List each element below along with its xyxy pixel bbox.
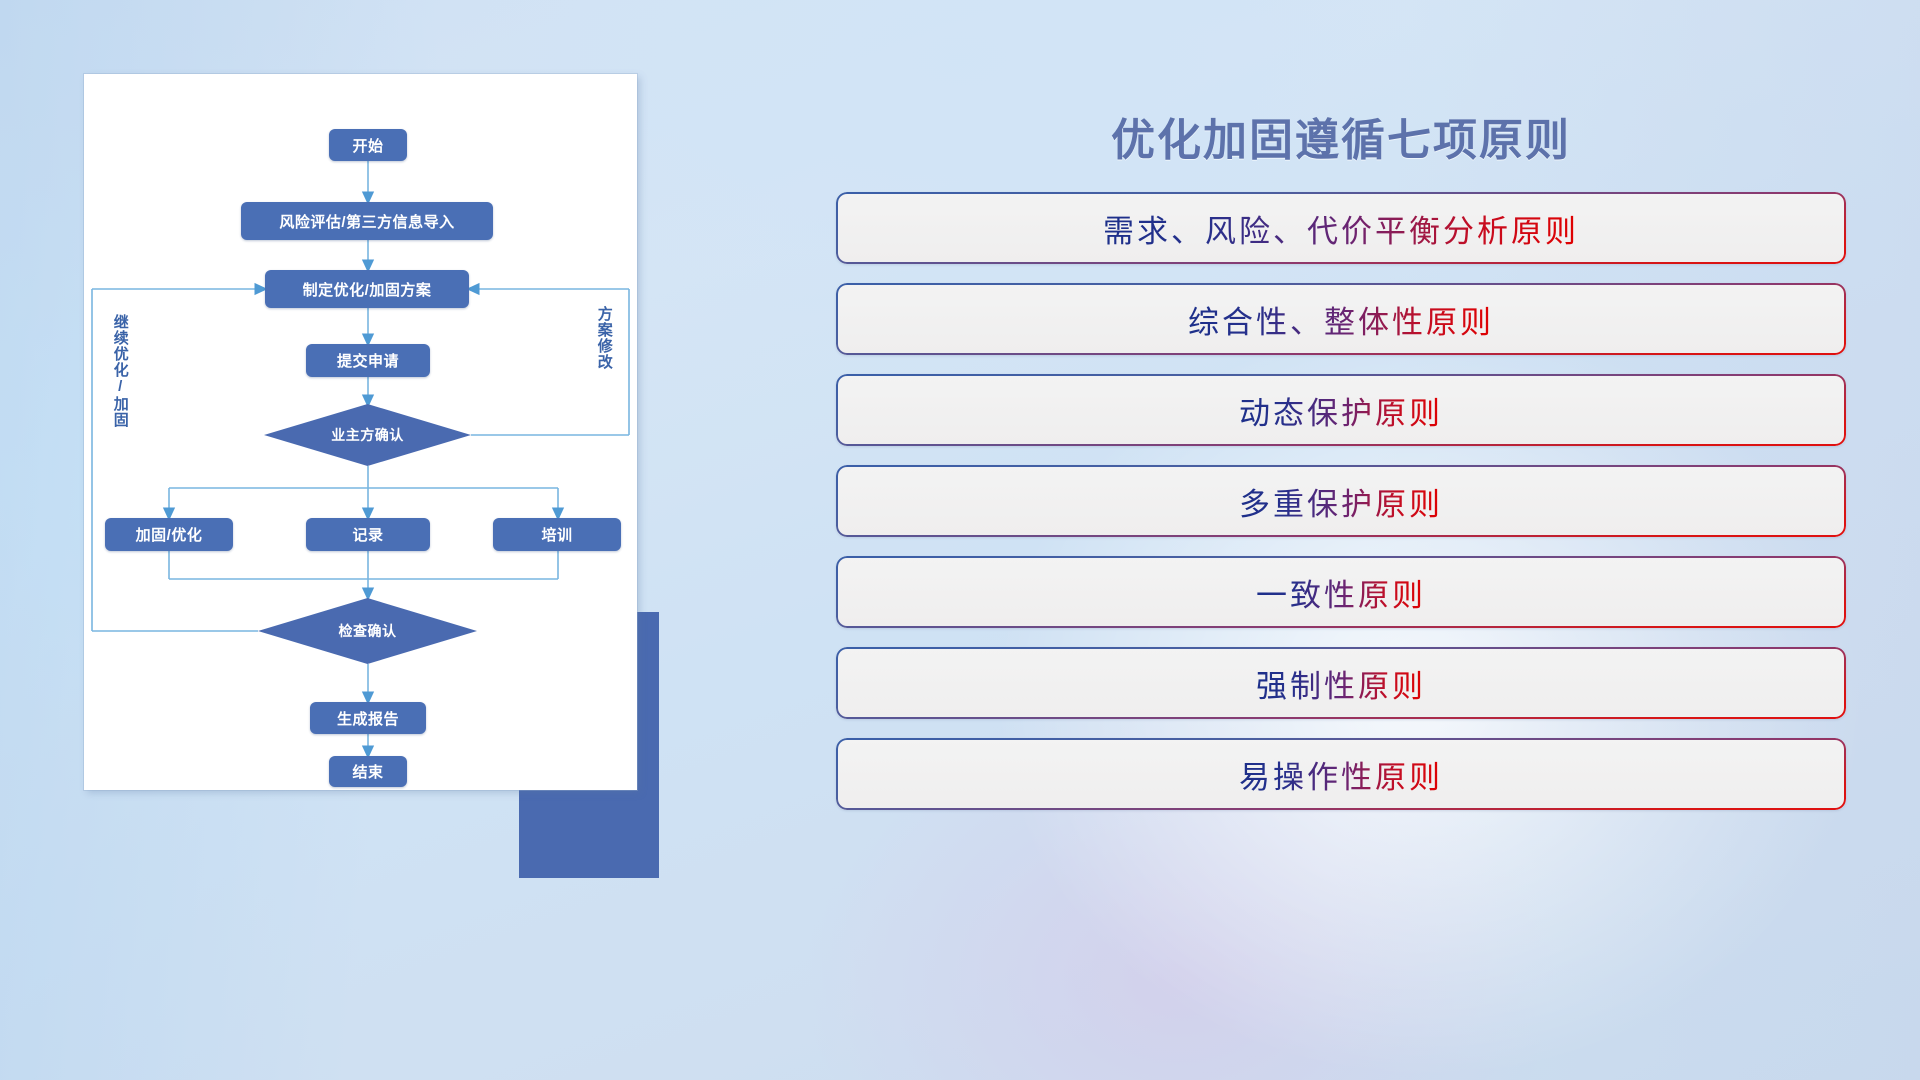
flow-node-record[interactable]: 记录 [306,518,430,551]
principles-list: 需求、风险、代价平衡分析原则 综合性、整体性原则 动态保护原则 多重保护原则 一… [836,192,1846,829]
principle-item-4[interactable]: 多重保护原则 [836,465,1846,537]
flowchart-panel: 开始 风险评估/第三方信息导入 制定优化/加固方案 提交申请 业主方确认 加固/… [84,74,644,794]
principle-item-3-label: 动态保护原则 [1239,388,1443,433]
flow-node-owner-confirm-label: 业主方确认 [264,404,471,466]
flow-node-check-confirm-label: 检查确认 [258,598,477,664]
principles-panel: 优化加固遵循七项原则 需求、风险、代价平衡分析原则 综合性、整体性原则 动态保护… [836,80,1846,1010]
flowchart-card: 开始 风险评估/第三方信息导入 制定优化/加固方案 提交申请 业主方确认 加固/… [84,74,637,790]
flow-node-submit[interactable]: 提交申请 [306,344,430,377]
principle-item-1[interactable]: 需求、风险、代价平衡分析原则 [836,192,1846,264]
flow-edge-label-right-loop: 方案修改 [596,306,612,370]
principle-item-7-label: 易操作性原则 [1239,752,1443,797]
principle-item-5-label: 一致性原则 [1256,570,1426,615]
flow-node-check-confirm[interactable]: 检查确认 [258,598,477,664]
principle-item-2-label: 综合性、整体性原则 [1188,297,1494,342]
principle-item-4-label: 多重保护原则 [1239,479,1443,524]
flow-node-end[interactable]: 结束 [329,756,407,787]
principle-item-6-label: 强制性原则 [1256,661,1426,706]
principle-item-6[interactable]: 强制性原则 [836,647,1846,719]
flow-edge-label-left-loop: 继续优化/加固 [112,314,128,428]
principle-item-1-label: 需求、风险、代价平衡分析原则 [1103,206,1579,251]
principle-item-5[interactable]: 一致性原则 [836,556,1846,628]
principle-item-7[interactable]: 易操作性原则 [836,738,1846,810]
flow-node-train[interactable]: 培训 [493,518,621,551]
flow-node-plan[interactable]: 制定优化/加固方案 [265,270,469,308]
principle-item-3[interactable]: 动态保护原则 [836,374,1846,446]
flow-node-start[interactable]: 开始 [329,129,407,161]
flow-node-report[interactable]: 生成报告 [310,702,426,734]
flow-node-risk[interactable]: 风险评估/第三方信息导入 [241,202,493,240]
principle-item-2[interactable]: 综合性、整体性原则 [836,283,1846,355]
principles-title: 优化加固遵循七项原则 [836,104,1846,168]
flow-node-reinforce[interactable]: 加固/优化 [105,518,233,551]
flow-node-owner-confirm[interactable]: 业主方确认 [264,404,471,466]
